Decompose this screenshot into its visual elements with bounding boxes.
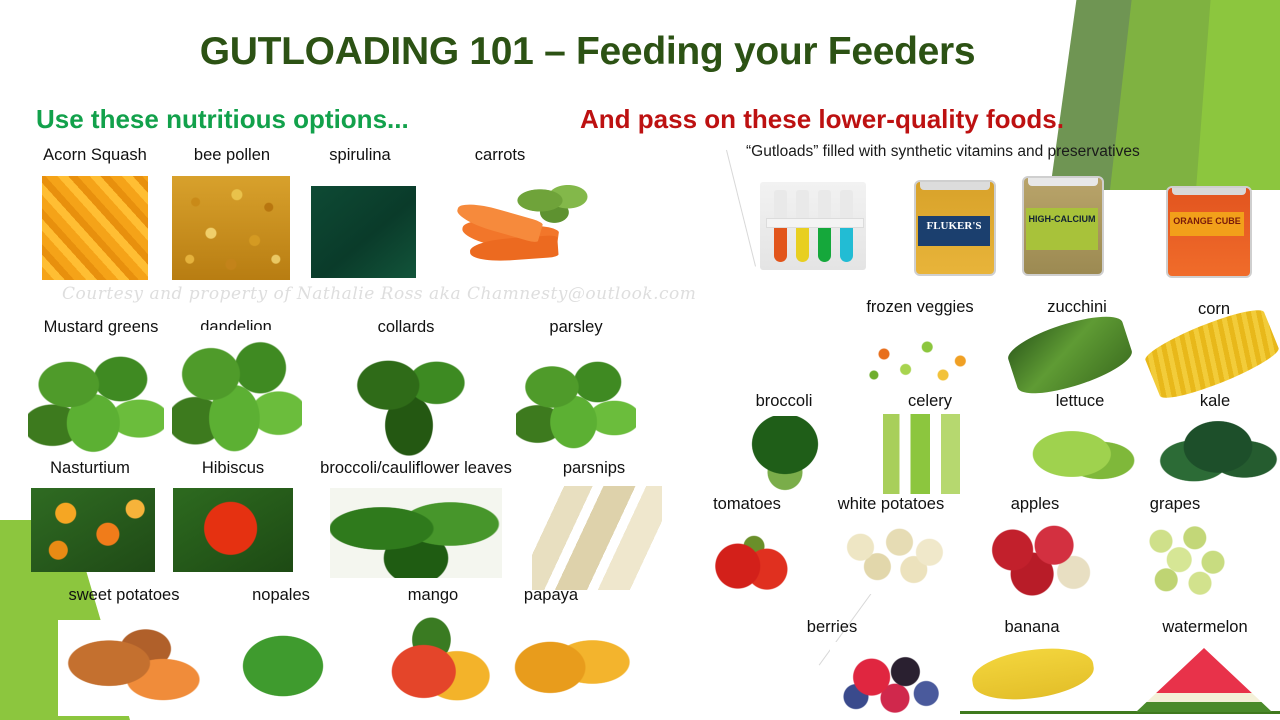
infographic-canvas: GUTLOADING 101 – Feeding your Feeders Us… (0, 0, 1280, 720)
label-grapes: grapes (1150, 495, 1200, 514)
label-broccoli: broccoli (756, 392, 813, 411)
tomatoes-photo (700, 522, 808, 598)
label-acorn-squash: Acorn Squash (43, 146, 147, 165)
label-parsley: parsley (549, 318, 602, 337)
dandelion-photo (172, 330, 302, 456)
flukers-orange-cube-jar-photo: ORANGE CUBE (1166, 186, 1252, 278)
parsley-photo (516, 352, 636, 452)
berries-photo (830, 642, 960, 720)
nasturtium-photo (31, 488, 155, 572)
label-apples: apples (1011, 495, 1060, 514)
label-zucchini: zucchini (1047, 298, 1107, 317)
label-lettuce: lettuce (1056, 392, 1105, 411)
acorn-squash-photo (42, 176, 148, 280)
label-banana: banana (1004, 618, 1059, 637)
apples-photo (976, 518, 1098, 598)
watermelon-photo (1136, 648, 1272, 712)
grapes-photo (1122, 516, 1252, 600)
label-mango: mango (408, 586, 458, 605)
mango-photo (370, 610, 498, 716)
jar-brand-label: FLUKER'S (918, 220, 990, 232)
watermark-credit: Courtesy and property of Nathalie Ross a… (62, 284, 696, 304)
label-nasturtium: Nasturtium (50, 459, 130, 478)
hibiscus-photo (173, 488, 293, 572)
test-tube-rack-photo (760, 182, 866, 270)
white-potatoes-photo (828, 522, 958, 594)
label-frozen-veggies: frozen veggies (866, 298, 973, 317)
gutload-caption: “Gutloads” filled with synthetic vitamin… (746, 143, 1140, 161)
frozen-veggies-photo (848, 326, 992, 396)
kale-photo (1158, 410, 1278, 492)
carrots-photo (442, 178, 602, 280)
good-foods-heading: Use these nutritious options... (36, 104, 409, 135)
mustard-greens-photo (28, 346, 164, 456)
label-white-potatoes: white potatoes (838, 495, 944, 514)
label-papaya: papaya (524, 586, 578, 605)
corn-backdrop (1148, 326, 1280, 406)
flukers-high-calcium-jar-photo: HIGH-CALCIUM (1022, 176, 1104, 276)
celery-photo (858, 414, 996, 494)
label-celery: celery (908, 392, 952, 411)
broccoli-cauliflower-leaves-photo (330, 488, 502, 578)
green-wedge-dark (1050, 0, 1170, 190)
label-mustard-greens: Mustard greens (44, 318, 159, 337)
bee-pollen-photo (172, 176, 290, 280)
label-bee-pollen: bee pollen (194, 146, 270, 165)
label-hibiscus: Hibiscus (202, 459, 264, 478)
parsnips-photo (532, 486, 662, 590)
page-title: GUTLOADING 101 – Feeding your Feeders (0, 30, 1175, 74)
label-watermelon: watermelon (1162, 618, 1247, 637)
label-berries: berries (807, 618, 857, 637)
nopales-photo (222, 620, 344, 712)
jar-brand-label-2: HIGH-CALCIUM (1026, 214, 1098, 224)
banana-photo (969, 642, 1096, 707)
green-wedge-mid (1110, 0, 1230, 190)
jar-brand-label-3: ORANGE CUBE (1170, 216, 1244, 226)
label-parsnips: parsnips (563, 459, 625, 478)
sweet-potatoes-photo (58, 620, 204, 716)
label-sweet-potatoes: sweet potatoes (69, 586, 180, 605)
label-tomatoes: tomatoes (713, 495, 781, 514)
bad-foods-heading: And pass on these lower-quality foods. (580, 104, 1064, 135)
zucchini-photo (1003, 307, 1136, 403)
label-collards: collards (378, 318, 435, 337)
label-carrots: carrots (475, 146, 525, 165)
label-broccoli-cauliflower-leaves: broccoli/cauliflower leaves (320, 459, 512, 478)
collards-photo (340, 338, 478, 456)
flukers-cricket-gutload-jar-photo: FLUKER'S (914, 180, 996, 276)
spirulina-photo (311, 186, 416, 278)
lettuce-photo (1016, 414, 1140, 494)
broccoli-photo (730, 416, 840, 494)
diagonal-guide-upper (726, 150, 756, 267)
label-nopales: nopales (252, 586, 310, 605)
green-wedge-light (1196, 0, 1280, 190)
label-spirulina: spirulina (329, 146, 390, 165)
papaya-photo (500, 608, 632, 716)
